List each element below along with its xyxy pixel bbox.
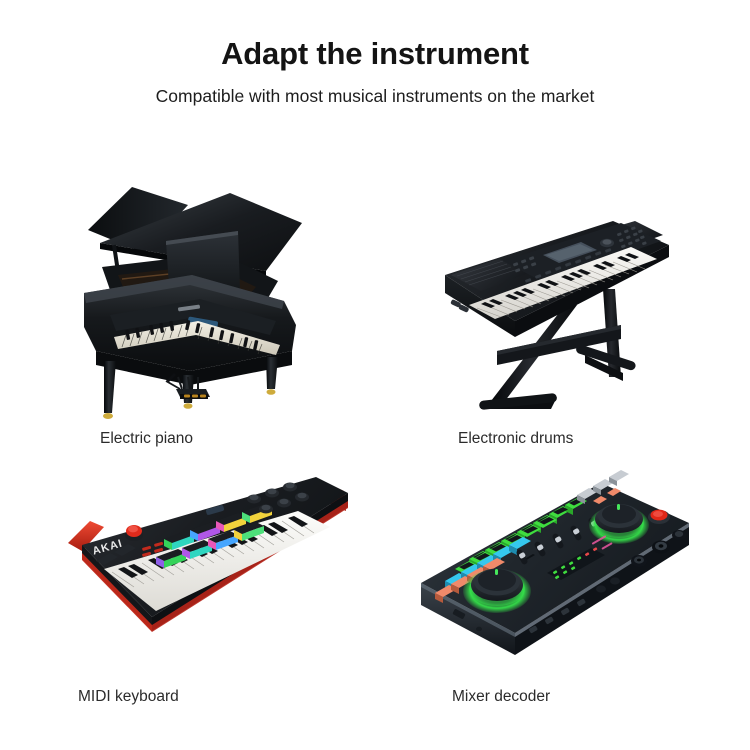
midi-joystick[interactable] [125, 525, 143, 541]
caption-electronic-drums: Electronic drums [458, 430, 573, 448]
page-subtitle: Compatible with most musical instruments… [0, 85, 750, 107]
caption-midi-keyboard: MIDI keyboard [78, 688, 179, 706]
caption-mixer-decoder: Mixer decoder [452, 688, 550, 706]
midi-keyboard-illustration: AKAI [60, 465, 365, 650]
product-feature-page: Adapt the instrument Compatible with mos… [0, 0, 750, 750]
product-cell-electronic-drums [425, 205, 685, 425]
page-title: Adapt the instrument [0, 36, 750, 72]
product-cell-electric-piano [70, 175, 330, 425]
electronic-drums-illustration [425, 205, 685, 425]
mixer-decoder-illustration [405, 465, 705, 655]
product-cell-midi-keyboard: AKAI [60, 465, 365, 650]
caption-electric-piano: Electric piano [100, 430, 193, 448]
product-cell-mixer-decoder [405, 465, 705, 655]
electric-piano-illustration [70, 175, 330, 425]
